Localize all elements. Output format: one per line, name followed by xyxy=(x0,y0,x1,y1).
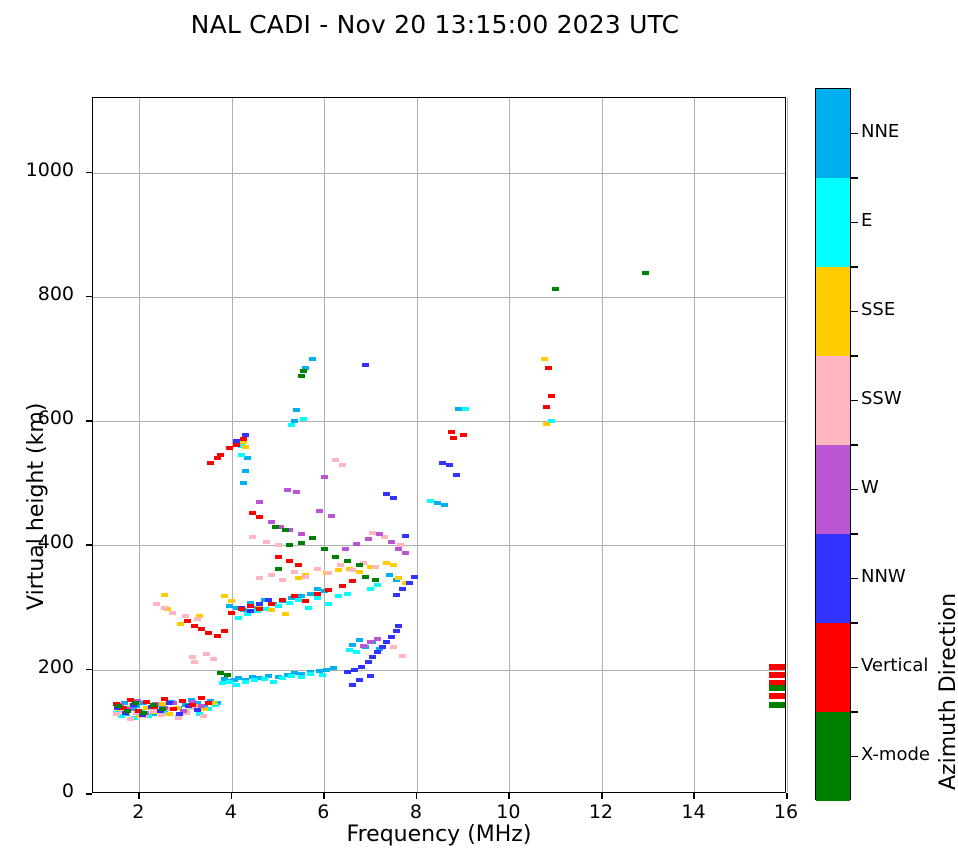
colorbar-label-ssw: SSW xyxy=(861,388,902,409)
colorbar-segment xyxy=(816,178,850,267)
scatter-point xyxy=(462,407,469,411)
scatter-point xyxy=(325,602,332,606)
edge-marker xyxy=(769,664,785,670)
scatter-point xyxy=(335,594,342,598)
scatter-point xyxy=(263,540,270,544)
scatter-point xyxy=(194,708,201,712)
scatter-point xyxy=(217,671,224,675)
scatter-point xyxy=(238,453,245,457)
colorbar-label-nnw: NNW xyxy=(861,566,906,587)
x-axis-tick-label: 14 xyxy=(663,801,723,823)
colorbar-tick xyxy=(851,578,858,580)
scatter-point xyxy=(390,645,397,649)
scatter-point xyxy=(369,655,376,659)
scatter-point xyxy=(159,707,166,711)
x-axis-tick xyxy=(231,793,233,799)
colorbar-boundary-tick xyxy=(851,533,858,535)
scatter-point xyxy=(226,680,233,684)
scatter-point xyxy=(353,650,360,654)
scatter-point xyxy=(298,541,305,545)
scatter-point xyxy=(182,614,189,618)
scatter-point xyxy=(349,568,356,572)
scatter-point xyxy=(337,563,344,567)
colorbar xyxy=(815,88,851,800)
scatter-point xyxy=(365,660,372,664)
x-axis-tick xyxy=(508,793,510,799)
plot-area xyxy=(92,97,786,793)
scatter-point xyxy=(224,673,231,677)
scatter-point xyxy=(448,430,455,434)
colorbar-segment xyxy=(816,534,850,623)
scatter-point xyxy=(319,673,326,677)
scatter-point xyxy=(166,712,173,716)
page-title: NAL CADI - Nov 20 13:15:00 2023 UTC xyxy=(0,10,870,39)
scatter-point xyxy=(288,674,295,678)
scatter-point xyxy=(349,643,356,647)
scatter-point xyxy=(344,559,351,563)
scatter-point xyxy=(346,648,353,652)
scatter-point xyxy=(325,588,332,592)
scatter-point xyxy=(275,555,282,559)
y-axis-tick-label: 200 xyxy=(0,656,74,678)
colorbar-boundary-tick xyxy=(851,266,858,268)
scatter-point xyxy=(316,509,323,513)
scatter-point xyxy=(300,417,307,421)
scatter-point xyxy=(184,619,191,623)
scatter-point xyxy=(279,676,286,680)
scatter-point xyxy=(406,581,413,585)
scatter-point xyxy=(288,423,295,427)
scatter-point xyxy=(552,287,559,291)
scatter-point xyxy=(395,547,402,551)
scatter-point xyxy=(293,408,300,412)
scatter-point xyxy=(233,683,240,687)
colorbar-boundary-tick xyxy=(851,177,858,179)
scatter-points-layer xyxy=(93,98,785,792)
scatter-point xyxy=(388,540,395,544)
scatter-point xyxy=(369,531,376,535)
colorbar-title: Azimuth Direction xyxy=(936,593,958,790)
x-axis-tick-label: 10 xyxy=(478,801,538,823)
scatter-point xyxy=(256,607,263,611)
scatter-point xyxy=(399,654,406,658)
x-axis-tick-label: 12 xyxy=(571,801,631,823)
scatter-point xyxy=(302,575,309,579)
scatter-point xyxy=(339,584,346,588)
colorbar-tick xyxy=(851,133,858,135)
scatter-point xyxy=(127,717,134,721)
scatter-point xyxy=(362,575,369,579)
scatter-point xyxy=(330,666,337,670)
scatter-point xyxy=(256,602,263,606)
scatter-point xyxy=(226,604,233,608)
scatter-point xyxy=(374,637,381,641)
scatter-point xyxy=(321,475,328,479)
scatter-point xyxy=(198,627,205,631)
colorbar-label-e: E xyxy=(861,210,872,231)
scatter-point xyxy=(158,713,165,717)
scatter-point xyxy=(140,711,147,715)
scatter-point xyxy=(235,676,242,680)
scatter-point xyxy=(210,657,217,661)
scatter-point xyxy=(268,573,275,577)
scatter-point xyxy=(282,528,289,532)
scatter-point xyxy=(249,511,256,515)
scatter-point xyxy=(402,551,409,555)
scatter-point xyxy=(383,492,390,496)
x-axis-tick-label: 4 xyxy=(201,801,261,823)
scatter-point xyxy=(543,405,550,409)
x-axis-tick-label: 8 xyxy=(386,801,446,823)
scatter-point xyxy=(240,481,247,485)
scatter-point xyxy=(434,501,441,505)
x-axis-tick xyxy=(138,793,140,799)
colorbar-tick xyxy=(851,667,858,669)
x-axis-tick xyxy=(416,793,418,799)
y-axis-tick xyxy=(86,793,92,795)
scatter-point xyxy=(356,570,363,574)
scatter-point xyxy=(367,640,374,644)
scatter-point xyxy=(207,461,214,465)
edge-marker xyxy=(769,702,785,708)
scatter-point xyxy=(349,579,356,583)
scatter-point xyxy=(383,561,390,565)
scatter-point xyxy=(541,357,548,361)
colorbar-segment xyxy=(816,623,850,712)
scatter-point xyxy=(244,456,251,460)
colorbar-tick xyxy=(851,311,858,313)
scatter-point xyxy=(191,624,198,628)
colorbar-label-nne: NNE xyxy=(861,121,899,142)
scatter-point xyxy=(372,578,379,582)
scatter-point xyxy=(335,568,342,572)
colorbar-segment xyxy=(816,89,850,178)
y-axis-tick xyxy=(86,172,92,174)
scatter-point xyxy=(132,701,139,705)
scatter-point xyxy=(282,612,289,616)
scatter-point xyxy=(307,592,314,596)
scatter-point xyxy=(356,678,363,682)
colorbar-segment xyxy=(816,267,850,356)
scatter-point xyxy=(233,443,240,447)
scatter-point xyxy=(256,500,263,504)
scatter-point xyxy=(177,622,184,626)
scatter-point xyxy=(446,463,453,467)
scatter-point xyxy=(309,357,316,361)
scatter-point xyxy=(344,592,351,596)
colorbar-label-w: W xyxy=(861,477,879,498)
scatter-point xyxy=(179,699,186,703)
scatter-point xyxy=(548,394,555,398)
scatter-point xyxy=(219,681,226,685)
scatter-point xyxy=(242,680,249,684)
scatter-point xyxy=(332,555,339,559)
x-axis-tick-label: 16 xyxy=(756,801,816,823)
scatter-point xyxy=(295,576,302,580)
scatter-point xyxy=(393,629,400,633)
scatter-point xyxy=(362,363,369,367)
scatter-point xyxy=(291,570,298,574)
scatter-point xyxy=(161,606,168,610)
scatter-point xyxy=(323,668,330,672)
scatter-point xyxy=(279,598,286,602)
scatter-point xyxy=(200,714,207,718)
y-axis-tick-label: 0 xyxy=(0,780,74,802)
colorbar-tick xyxy=(851,222,858,224)
scatter-point xyxy=(169,611,176,615)
scatter-point xyxy=(170,707,177,711)
scatter-point xyxy=(325,571,332,575)
scatter-point xyxy=(286,559,293,563)
scatter-point xyxy=(314,567,321,571)
scatter-point xyxy=(194,617,201,621)
y-axis-title: Virtual height (km) xyxy=(24,403,49,610)
x-axis-tick xyxy=(601,793,603,799)
y-axis-tick xyxy=(86,296,92,298)
scatter-point xyxy=(342,547,349,551)
scatter-point xyxy=(189,703,196,707)
scatter-point xyxy=(298,532,305,536)
scatter-point xyxy=(545,366,552,370)
scatter-point xyxy=(388,635,395,639)
scatter-point xyxy=(427,499,434,503)
scatter-point xyxy=(372,565,379,569)
colorbar-boundary-tick xyxy=(851,444,858,446)
scatter-point xyxy=(235,616,242,620)
scatter-point xyxy=(360,644,367,648)
scatter-point xyxy=(228,599,235,603)
scatter-point xyxy=(295,563,302,567)
scatter-point xyxy=(358,665,365,669)
scatter-point xyxy=(307,672,314,676)
colorbar-tick xyxy=(851,489,858,491)
scatter-point xyxy=(256,515,263,519)
edge-marker xyxy=(769,685,785,691)
scatter-point xyxy=(270,680,277,684)
scatter-point xyxy=(374,583,381,587)
scatter-point xyxy=(349,683,356,687)
scatter-point xyxy=(176,712,183,716)
scatter-point xyxy=(284,488,291,492)
scatter-point xyxy=(386,573,393,577)
scatter-point xyxy=(161,697,168,701)
scatter-point xyxy=(439,461,446,465)
x-axis-title: Frequency (MHz) xyxy=(92,822,786,847)
scatter-point xyxy=(356,563,363,567)
scatter-point xyxy=(150,703,157,707)
colorbar-label-x-mode: X-mode xyxy=(861,744,930,765)
scatter-point xyxy=(453,473,460,477)
scatter-point xyxy=(153,602,160,606)
scatter-point xyxy=(275,567,282,571)
scatter-point xyxy=(305,606,312,610)
y-axis-tick-label: 800 xyxy=(0,283,74,305)
scatter-point xyxy=(390,563,397,567)
edge-marker xyxy=(769,693,785,699)
scatter-point xyxy=(293,490,300,494)
scatter-point xyxy=(228,611,235,615)
y-axis-tick-label: 1000 xyxy=(0,159,74,181)
scatter-point xyxy=(543,422,550,426)
scatter-point xyxy=(383,640,390,644)
colorbar-boundary-tick xyxy=(851,622,858,624)
scatter-point xyxy=(390,496,397,500)
scatter-point xyxy=(275,543,282,547)
scatter-point xyxy=(124,709,131,713)
scatter-point xyxy=(328,514,335,518)
scatter-point xyxy=(198,696,205,700)
scatter-point xyxy=(455,407,462,411)
scatter-point xyxy=(275,604,282,608)
scatter-point xyxy=(376,532,383,536)
colorbar-boundary-tick xyxy=(851,355,858,357)
scatter-point xyxy=(189,655,196,659)
scatter-point xyxy=(191,660,198,664)
scatter-point xyxy=(249,535,256,539)
x-axis-tick-label: 6 xyxy=(293,801,353,823)
scatter-point xyxy=(402,534,409,538)
scatter-point xyxy=(395,576,402,580)
scatter-point xyxy=(221,629,228,633)
scatter-point xyxy=(399,587,406,591)
colorbar-segment xyxy=(816,445,850,534)
scatter-point xyxy=(314,587,321,591)
scatter-point xyxy=(365,537,372,541)
scatter-point xyxy=(351,668,358,672)
scatter-point xyxy=(295,598,302,602)
scatter-point xyxy=(205,701,212,705)
scatter-point xyxy=(268,608,275,612)
scatter-point xyxy=(261,677,268,681)
scatter-point xyxy=(256,576,263,580)
scatter-point xyxy=(251,678,258,682)
scatter-point xyxy=(374,650,381,654)
scatter-point xyxy=(309,536,316,540)
scatter-point xyxy=(642,271,649,275)
scatter-point xyxy=(247,609,254,613)
scatter-point xyxy=(247,604,254,608)
scatter-point xyxy=(203,652,210,656)
scatter-point xyxy=(314,596,321,600)
scatter-point xyxy=(221,594,228,598)
scatter-point xyxy=(395,624,402,628)
colorbar-tick xyxy=(851,756,858,758)
scatter-point xyxy=(339,463,346,467)
colorbar-segment xyxy=(816,356,850,445)
scatter-point xyxy=(238,607,245,611)
gridline-vertical xyxy=(787,98,788,792)
scatter-point xyxy=(161,593,168,597)
scatter-point xyxy=(214,634,221,638)
scatter-point xyxy=(298,374,305,378)
scatter-point xyxy=(393,593,400,597)
scatter-point xyxy=(242,445,249,449)
scatter-point xyxy=(268,602,275,606)
colorbar-tick xyxy=(851,400,858,402)
x-axis-tick-label: 2 xyxy=(108,801,168,823)
scatter-point xyxy=(150,709,157,713)
scatter-point xyxy=(272,525,279,529)
scatter-point xyxy=(240,437,247,441)
scatter-point xyxy=(242,469,249,473)
scatter-point xyxy=(214,456,221,460)
scatter-point xyxy=(113,712,120,716)
scatter-point xyxy=(321,547,328,551)
x-axis-tick xyxy=(323,793,325,799)
scatter-point xyxy=(353,542,360,546)
scatter-point xyxy=(286,601,293,605)
scatter-point xyxy=(450,436,457,440)
scatter-point xyxy=(286,543,293,547)
scatter-point xyxy=(314,592,321,596)
scatter-point xyxy=(291,594,298,598)
y-axis-tick xyxy=(86,669,92,671)
scatter-point xyxy=(411,575,418,579)
scatter-point xyxy=(226,446,233,450)
scatter-point xyxy=(332,458,339,462)
scatter-point xyxy=(115,704,122,708)
scatter-point xyxy=(166,701,173,705)
scatter-point xyxy=(460,433,467,437)
scatter-point xyxy=(300,369,307,373)
colorbar-label-sse: SSE xyxy=(861,299,895,320)
scatter-point xyxy=(344,670,351,674)
scatter-point xyxy=(367,587,374,591)
y-axis-tick xyxy=(86,420,92,422)
scatter-point xyxy=(367,674,374,678)
scatter-point xyxy=(279,578,286,582)
y-axis-tick xyxy=(86,544,92,546)
scatter-point xyxy=(205,631,212,635)
colorbar-boundary-tick xyxy=(851,711,858,713)
scatter-point xyxy=(379,645,386,649)
scatter-point xyxy=(298,675,305,679)
colorbar-label-vertical: Vertical xyxy=(861,655,928,676)
edge-marker xyxy=(769,672,785,678)
scatter-point xyxy=(441,503,448,507)
scatter-point xyxy=(356,638,363,642)
x-axis-tick xyxy=(786,793,788,799)
x-axis-tick xyxy=(693,793,695,799)
scatter-point xyxy=(175,716,182,720)
scatter-point xyxy=(302,599,309,603)
colorbar-segment xyxy=(816,712,850,801)
